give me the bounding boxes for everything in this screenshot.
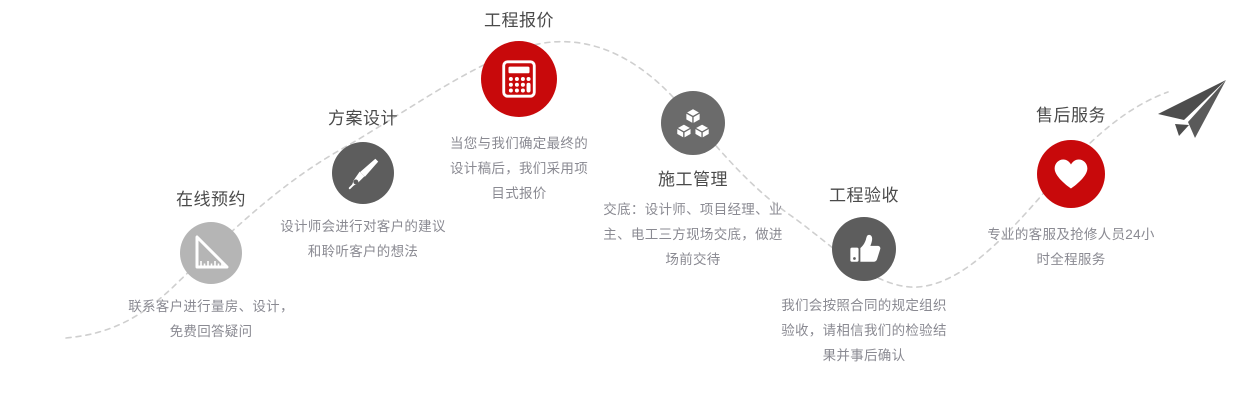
step-5-icon-wrap bbox=[779, 217, 949, 281]
pen-nib-icon bbox=[332, 142, 394, 204]
heart-icon bbox=[1037, 140, 1105, 208]
step-6-title: 售后服务 bbox=[986, 105, 1156, 127]
step-6-desc: 专业的客服及抢修人员24小时全程服务 bbox=[986, 222, 1156, 272]
step-5-title: 工程验收 bbox=[779, 185, 949, 207]
step-2: 方案设计 设计师会进行对客户的建议和聆听客户的想法 bbox=[278, 108, 448, 264]
step-3-icon-wrap bbox=[434, 41, 604, 117]
process-flow-diagram: 在线预约 联系客户进行量房、设计，免费回答疑问 bbox=[0, 0, 1245, 402]
step-3: 工程报价 当您与我们确定最终的设计稿后 bbox=[434, 10, 604, 206]
step-4-title: 施工管理 bbox=[603, 169, 783, 191]
step-3-desc: 当您与我们确定最终的设计稿后，我们采用项目式报价 bbox=[444, 131, 594, 206]
step-6: 售后服务 专业的客服及抢修人员24小时全程服务 bbox=[986, 105, 1156, 272]
set-square-ruler-icon bbox=[180, 222, 242, 284]
step-2-desc: 设计师会进行对客户的建议和聆听客户的想法 bbox=[278, 214, 448, 264]
step-1-icon-wrap bbox=[126, 222, 296, 284]
calculator-icon bbox=[481, 41, 557, 117]
step-1-desc: 联系客户进行量房、设计，免费回答疑问 bbox=[126, 294, 296, 344]
step-4-icon-wrap bbox=[603, 91, 783, 155]
step-4: 施工管理 交底：设计师、项目经理、业主、电工三方现场交底，做进场前交待 bbox=[603, 91, 783, 272]
step-4-desc: 交底：设计师、项目经理、业主、电工三方现场交底，做进场前交待 bbox=[603, 197, 783, 272]
step-5-desc: 我们会按照合同的规定组织验收，请相信我们的检验结果并事后确认 bbox=[779, 293, 949, 368]
step-2-title: 方案设计 bbox=[278, 108, 448, 130]
step-1-title: 在线预约 bbox=[126, 189, 296, 211]
step-2-icon-wrap bbox=[278, 142, 448, 204]
step-5: 工程验收 我们会按照合同的规定组织验收，请相信我们的检验结果并事后确认 bbox=[779, 185, 949, 368]
paper-plane-icon bbox=[1148, 78, 1238, 145]
step-1: 在线预约 联系客户进行量房、设计，免费回答疑问 bbox=[126, 189, 296, 344]
step-3-title: 工程报价 bbox=[434, 10, 604, 32]
boxes-icon bbox=[661, 91, 725, 155]
thumbs-up-icon bbox=[832, 217, 896, 281]
step-6-icon-wrap bbox=[986, 140, 1156, 208]
